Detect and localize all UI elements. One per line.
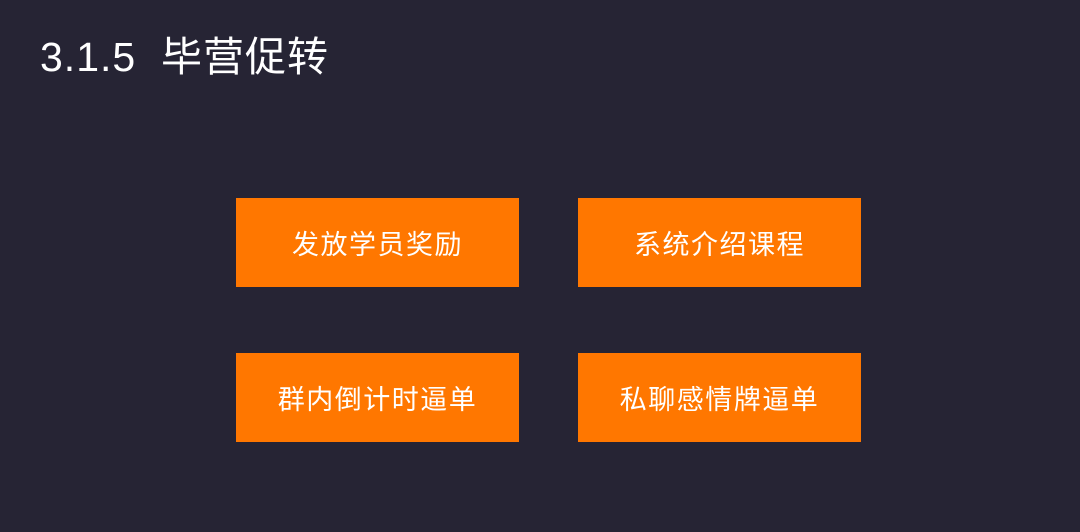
card-label: 系统介绍课程 (634, 223, 805, 262)
card-item[interactable]: 群内倒计时逼单 (236, 353, 519, 442)
card-label: 私聊感情牌逼单 (620, 378, 820, 417)
slide-canvas: 3.1.5 毕营促转 发放学员奖励 系统介绍课程 群内倒计时逼单 私聊感情牌逼单 (0, 0, 1080, 532)
card-item[interactable]: 私聊感情牌逼单 (578, 353, 861, 442)
card-label: 群内倒计时逼单 (278, 378, 478, 417)
card-item[interactable]: 系统介绍课程 (578, 198, 861, 287)
page-title: 3.1.5 毕营促转 (40, 31, 329, 83)
card-item[interactable]: 发放学员奖励 (236, 198, 519, 287)
card-label: 发放学员奖励 (292, 223, 463, 262)
card-grid: 发放学员奖励 系统介绍课程 群内倒计时逼单 私聊感情牌逼单 (236, 198, 861, 442)
